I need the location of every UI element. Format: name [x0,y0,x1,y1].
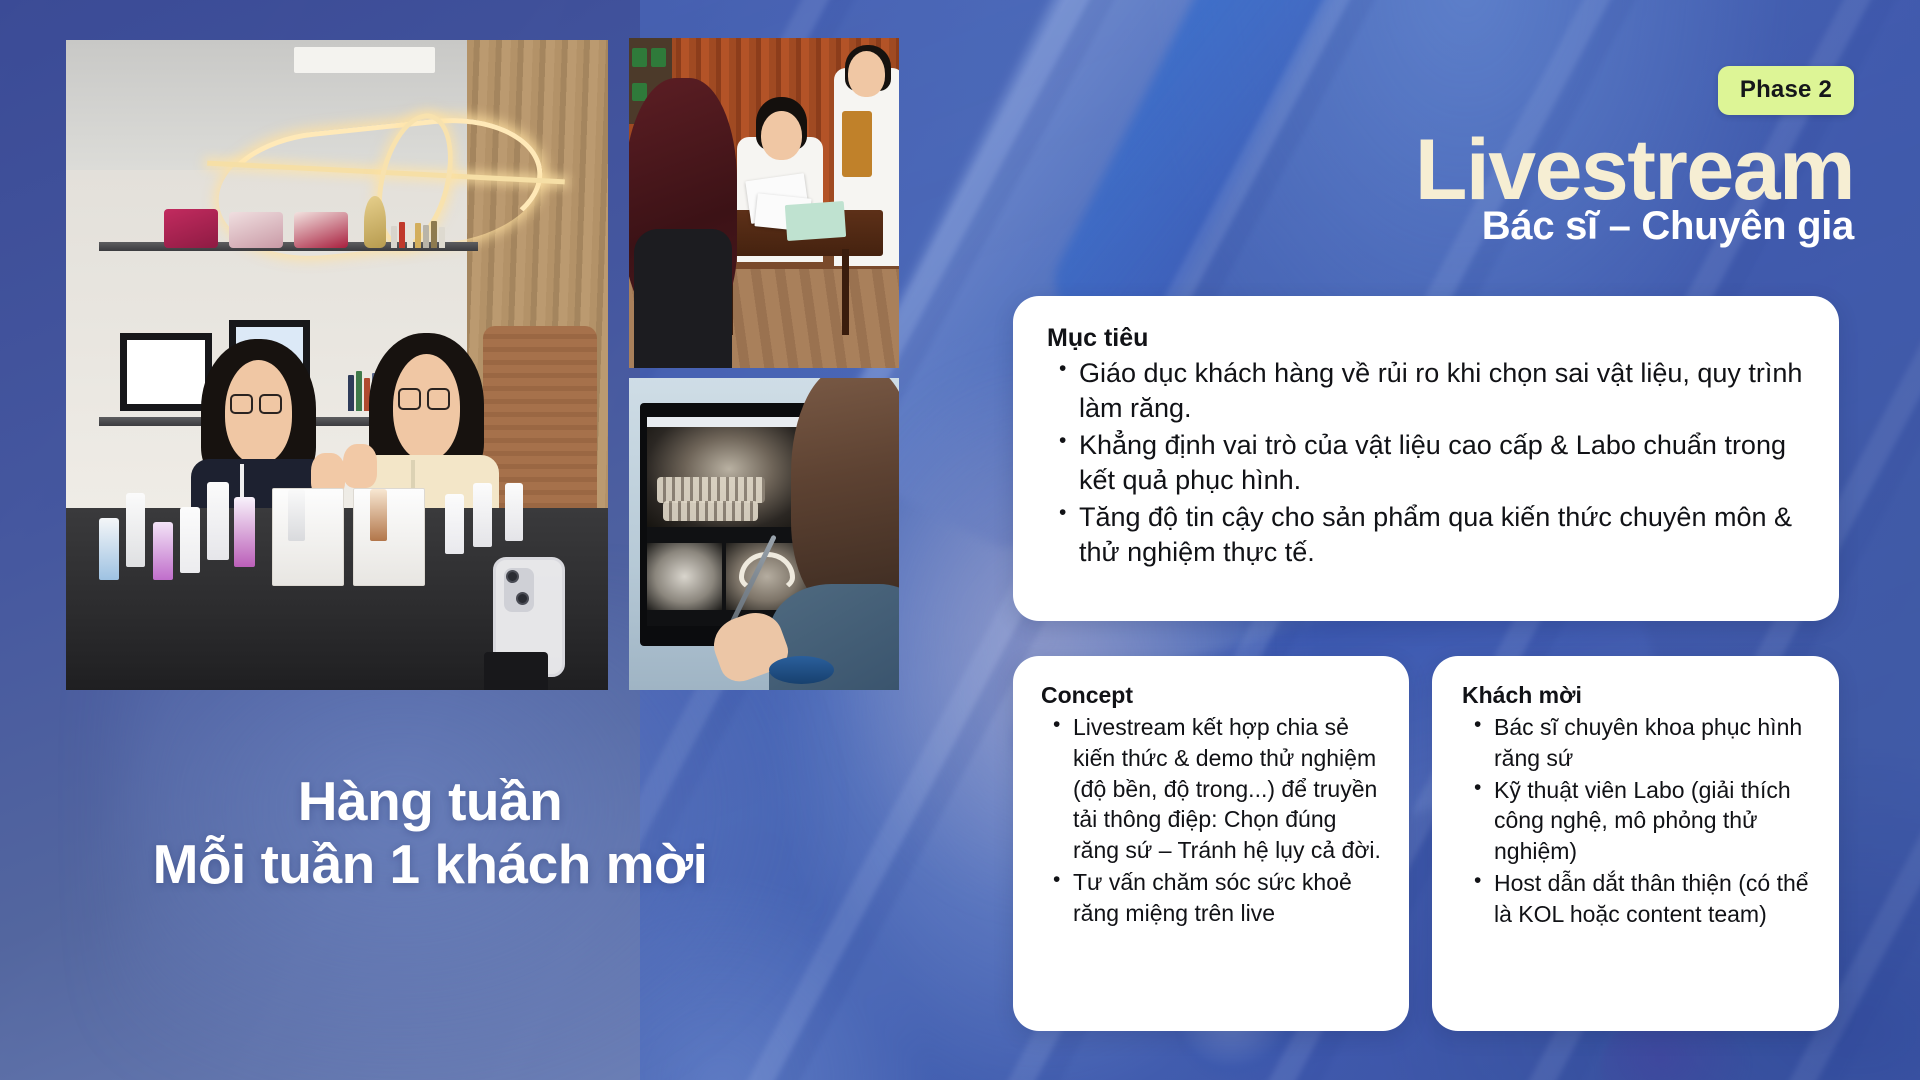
xray-monitor-photo [629,378,899,690]
list-item: Tư vấn chăm sóc sức khoẻ răng miệng trên… [1041,867,1383,929]
phase-badge: Phase 2 [1718,66,1854,115]
page-title: Livestream [1415,128,1854,212]
concept-card-heading: Concept [1041,682,1383,709]
headline-line-1: Hàng tuần [0,770,860,833]
product-bottle [99,518,119,580]
book-row [391,222,445,248]
goal-card-list: Giáo dục khách hàng về rủi ro khi chọn s… [1047,356,1805,571]
concept-card: Concept Livestream kết hợp chia sẻ kiến … [1013,656,1409,1031]
product-bottle [288,489,305,541]
product-gift-box [353,488,425,586]
product-bottle [207,482,229,560]
headline-line-2: Mỗi tuần 1 khách mời [0,833,860,896]
phone-tripod [484,652,548,690]
phone-camera-module [504,568,534,612]
list-item: Tăng độ tin cậy cho sản phẩm qua kiến th… [1047,500,1805,570]
list-item: Bác sĩ chuyên khoa phục hình răng sứ [1462,712,1815,774]
trophy [364,196,386,248]
doctor-head-back [791,378,899,609]
list-item: Host dẫn dắt thân thiện (có thể là KOL h… [1462,868,1815,930]
consultation-photo [629,38,899,368]
product-bottle [126,493,145,567]
product-bottle [370,489,387,541]
list-item: Livestream kết hợp chia sẻ kiến thức & d… [1041,712,1383,866]
product-bottle [473,483,492,547]
concept-card-list: Livestream kết hợp chia sẻ kiến thức & d… [1041,712,1383,929]
goal-card-heading: Mục tiêu [1047,324,1805,353]
list-item: Khẳng định vai trò của vật liệu cao cấp … [1047,428,1805,498]
ceiling-light [294,47,435,73]
clinic-scene [66,40,608,690]
product-bottle [180,507,200,573]
guest-card-list: Bác sĩ chuyên khoa phục hình răng sứ Kỹ … [1462,712,1815,930]
list-item: Giáo dục khách hàng về rủi ro khi chọn s… [1047,356,1805,426]
goal-card: Mục tiêu Giáo dục khách hàng về rủi ro k… [1013,296,1839,621]
shirt [842,111,872,177]
face [761,111,802,161]
clinic-team-photo [66,40,608,690]
product-gift-box [272,488,344,586]
software-toolbar [647,417,811,427]
computer-mouse [769,656,834,684]
face [848,51,886,97]
product-bottle [505,483,523,541]
title-block: Livestream Bác sĩ – Chuyên gia [1415,128,1854,247]
panoramic-xray-image [647,427,811,527]
cross-section-xray [647,543,723,610]
gift-box [294,212,348,248]
product-bottle [234,497,255,567]
gift-box [229,212,283,248]
frequency-headline: Hàng tuần Mỗi tuần 1 khách mời [0,770,860,895]
gift-box [164,209,218,248]
clipboard [784,201,846,241]
xray-scene [629,378,899,690]
client-shirt [634,229,731,368]
list-item: Kỹ thuật viên Labo (giải thích công nghệ… [1462,775,1815,867]
monitor-screen [647,417,811,626]
guest-card-heading: Khách mời [1462,682,1815,709]
product-bottle [445,494,464,554]
guest-card: Khách mời Bác sĩ chuyên khoa phục hình r… [1432,656,1839,1031]
product-bottle [153,522,173,580]
consultation-scene [629,38,899,368]
